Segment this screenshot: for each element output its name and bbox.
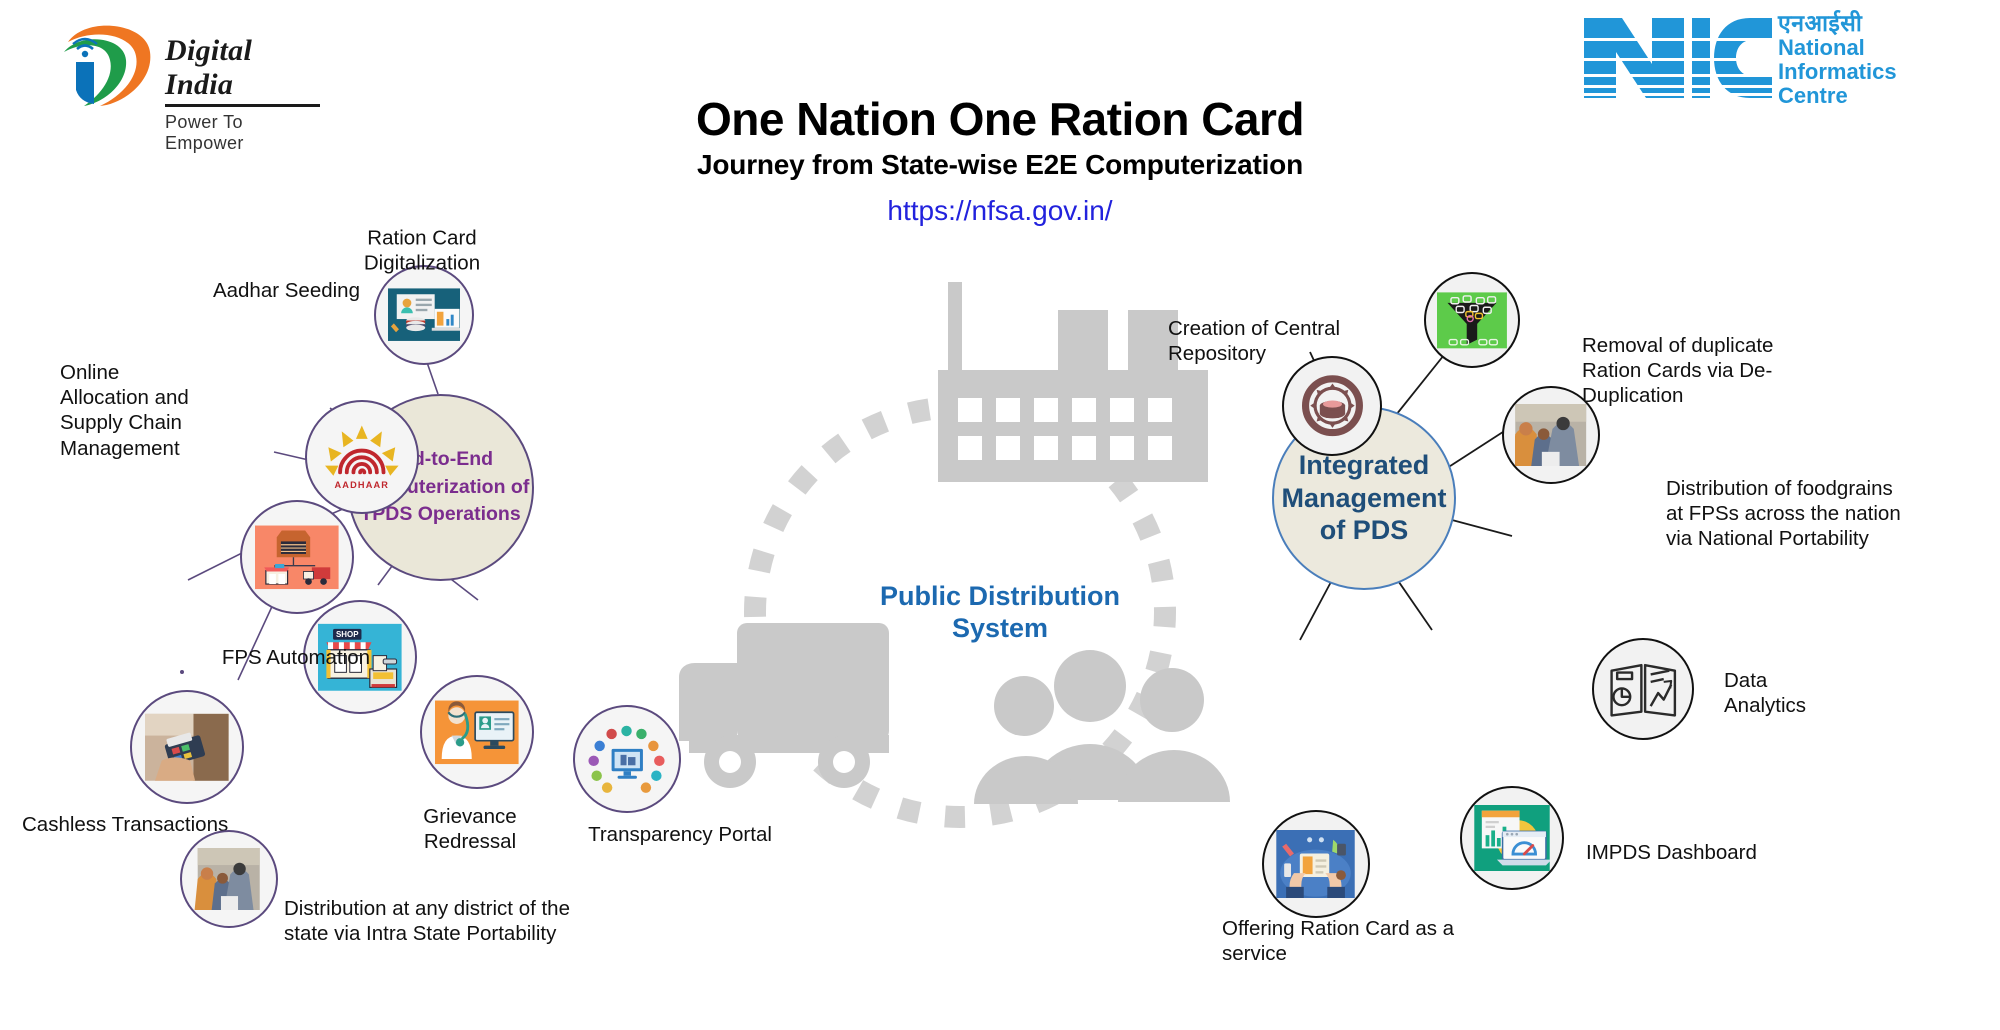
node-ration-card-digitalization[interactable] [374,265,474,365]
label-impds-dashboard: IMPDS Dashboard [1586,840,1906,865]
people-icon [974,650,1230,804]
node-grievance-redressal[interactable] [420,675,534,789]
node-impds-dashboard[interactable] [1460,786,1564,890]
ration-card-service-icon [1276,830,1355,899]
label-ration-card-as-a-service: Offering Ration Card as a service [1222,916,1622,966]
aadhaar-icon: AADHAAR [320,421,404,494]
label-grievance-redressal: Grievance Redressal [350,804,590,854]
label-removal-duplicate-ration-cards: Removal of duplicate Ration Cards via De… [1582,333,2000,409]
node-national-portability-distribution[interactable] [1502,386,1600,484]
fps-queue-photo-icon [193,848,264,910]
node-transparency-portal[interactable] [573,705,681,813]
pds-center-label: Public Distribution System [880,580,1120,645]
de-duplication-funnel-icon [1437,290,1507,351]
label-online-allocation-supply-chain: Online Allocation and Supply Chain Manag… [60,360,320,461]
card-swipe-photo-icon [145,711,229,784]
transparency-portal-icon [587,725,666,794]
warehouse-truck-icon [255,521,339,594]
svg-text:AADHAAR: AADHAAR [335,480,390,490]
infographic-canvas: Digital India Power To Empower [0,0,2000,1030]
node-cashless-transactions[interactable] [130,690,244,804]
node-aadhar-seeding[interactable]: AADHAAR [305,400,419,514]
svg-text:SHOP: SHOP [336,630,359,639]
node-ration-card-as-a-service[interactable] [1262,810,1370,918]
label-national-portability-distribution: Distribution of foodgrains at FPSs acros… [1666,476,2000,552]
call-center-icon [435,696,519,769]
factory-icon [938,282,1208,482]
node-data-analytics[interactable] [1592,638,1694,740]
fps-distribution-photo-icon [1515,404,1586,466]
label-fps-automation: FPS Automation [0,645,370,670]
node-intra-state-portability[interactable] [180,830,278,928]
central-repository-icon [1296,374,1369,437]
node-removal-duplicate-ration-cards[interactable] [1424,272,1520,368]
spacer3 [180,670,184,674]
label-data-analytics: Data Analytics [1724,668,1964,718]
node-online-allocation-supply-chain[interactable] [240,500,354,614]
node-creation-central-repository[interactable] [1282,356,1382,456]
data-analytics-icon [1606,657,1680,722]
label-aadhar-seeding: Aadhar Seeding [0,278,360,303]
label-transparency-portal: Transparency Portal [560,822,800,847]
right-hub-line-3: of PDS [1320,514,1409,547]
ration-card-digitalization-icon [388,283,461,346]
impds-dashboard-icon [1474,805,1550,871]
label-ration-card-digitalization: Ration Card Digitalization [307,226,537,276]
truck-icon [679,623,889,788]
label-intra-state-portability: Distribution at any district of the stat… [284,896,704,946]
right-hub-line-2: Management [1281,482,1446,515]
